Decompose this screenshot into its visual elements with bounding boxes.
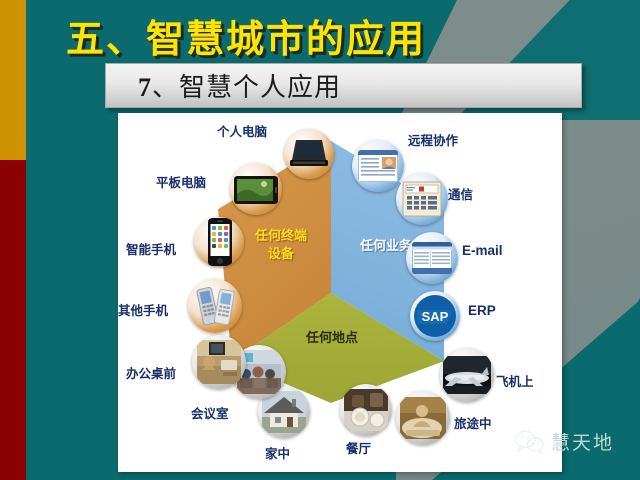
sector-label-any-device: 任何终端 设备 bbox=[232, 227, 330, 262]
smartphone-icon bbox=[194, 217, 244, 267]
tablet-icon bbox=[230, 163, 282, 215]
restaurant-icon bbox=[340, 384, 392, 436]
subtitle-text: 7、智慧个人应用 bbox=[106, 67, 341, 104]
subtitle-label: 、智慧个人应用 bbox=[152, 73, 341, 102]
diagram-panel: 任何终端 设备 任何业务 任何地点 个人电脑 平板电脑 bbox=[118, 113, 562, 472]
node-label-tablet: 平板电脑 bbox=[156, 172, 206, 191]
node-label-smartphone: 智能手机 bbox=[126, 239, 176, 258]
video-conference-icon bbox=[352, 140, 404, 192]
node-label-communication: 通信 bbox=[448, 184, 473, 203]
page-title: 五、智慧城市的应用 bbox=[66, 8, 426, 63]
subtitle-number: 7 bbox=[138, 73, 152, 102]
watermark-text: 慧天地 bbox=[551, 428, 614, 455]
svg-text:SAP: SAP bbox=[422, 309, 449, 324]
node-label-on-the-go: 旅途中 bbox=[454, 413, 492, 432]
left-stripe-red bbox=[0, 160, 26, 480]
node-label-erp: ERP bbox=[468, 303, 496, 318]
travel-icon bbox=[396, 391, 450, 445]
email-window-icon bbox=[406, 232, 458, 284]
node-label-restaurant: 餐厅 bbox=[346, 438, 371, 457]
node-label-at-desk: 办公桌前 bbox=[126, 363, 176, 382]
node-label-personal-computer: 个人电脑 bbox=[217, 121, 267, 140]
office-desk-icon bbox=[192, 335, 246, 389]
laptop-icon bbox=[284, 129, 334, 179]
node-label-meeting-room: 会议室 bbox=[191, 403, 229, 422]
left-stripe-gold bbox=[0, 0, 26, 160]
sector-label-any-place: 任何地点 bbox=[276, 329, 388, 347]
sector-label-any-device-line2: 设备 bbox=[232, 245, 330, 263]
node-label-on-airplane: 飞机上 bbox=[496, 371, 534, 390]
node-label-other-phones: 其他手机 bbox=[118, 300, 168, 319]
node-label-email: E-mail bbox=[462, 243, 503, 258]
wechat-icon bbox=[515, 430, 545, 454]
node-label-at-home: 家中 bbox=[265, 443, 290, 462]
sector-label-any-device-line1: 任何终端 bbox=[232, 227, 330, 245]
fax-machine-icon bbox=[396, 173, 448, 225]
airplane-icon bbox=[440, 348, 494, 402]
watermark: 慧天地 bbox=[515, 428, 614, 455]
sap-logo-icon: SAP bbox=[410, 291, 460, 341]
feature-phone-icon bbox=[188, 279, 242, 333]
slide-canvas: 五、智慧城市的应用 7、智慧个人应用 任何终端 设备 任何业务 任何地点 个人电… bbox=[0, 0, 640, 480]
subtitle-bar: 7、智慧个人应用 bbox=[105, 63, 582, 108]
node-label-remote-collaboration: 远程协作 bbox=[408, 130, 458, 149]
